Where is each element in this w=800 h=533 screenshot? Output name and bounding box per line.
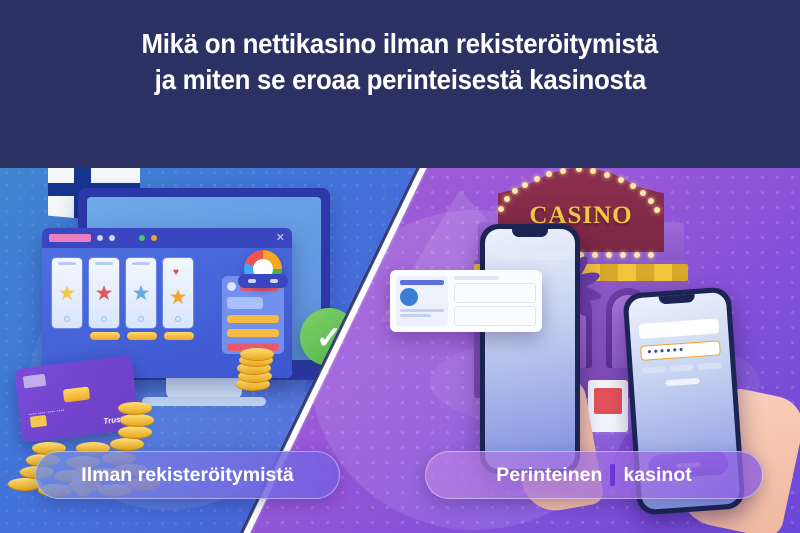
pill-right-label-b: kasinot	[623, 464, 691, 487]
star-icon: ★	[169, 287, 188, 308]
username-field[interactable]	[639, 318, 720, 339]
browser-titlebar: ✕	[42, 228, 292, 248]
pill-separator	[610, 464, 615, 486]
id-form-fields	[454, 276, 536, 326]
pill-right-label-a: Perinteinen	[496, 464, 602, 487]
pill-left-label: Ilman rekisteröitymistä	[81, 464, 293, 487]
id-verification-card	[390, 270, 542, 332]
phone-verification	[480, 224, 580, 474]
title-line-1: Mikä on nettikasino ilman rekisteröitymi…	[142, 26, 659, 62]
star-icon: ★	[132, 283, 151, 304]
status-dot-green-icon	[139, 235, 145, 241]
avatar	[400, 288, 418, 306]
slot-reel: ♥ ★	[162, 257, 194, 329]
password-field[interactable]: ••••••	[640, 340, 721, 361]
status-dot-orange-icon	[151, 235, 157, 241]
slot-reel: ★	[88, 257, 120, 329]
star-icon: ★	[95, 283, 114, 304]
comparison-panels: ✕ ★ ★	[0, 140, 800, 533]
slot-reel: ★	[51, 257, 83, 329]
pie-chart-base	[238, 274, 288, 288]
label-pill-traditional-casino[interactable]: Perinteinen kasinot	[425, 451, 763, 499]
tab-dot-icon	[109, 235, 115, 241]
id-photo-block	[396, 276, 448, 326]
infographic-canvas: ✕ ★ ★	[0, 0, 800, 533]
label-pill-no-registration[interactable]: Ilman rekisteröitymistä	[35, 451, 340, 499]
slot-cabinet-decor	[588, 380, 628, 432]
slot-reels: ★ ★ ★	[51, 257, 194, 329]
slot-reel: ★	[125, 257, 157, 329]
tab-dot-icon	[97, 235, 103, 241]
heart-icon: ♥	[173, 267, 179, 278]
login-form: ••••••	[639, 318, 724, 392]
star-icon: ★	[58, 283, 77, 304]
close-icon[interactable]: ✕	[276, 233, 285, 244]
coin-stack-center	[236, 348, 286, 394]
title-line-2: ja miten se eroaa perinteisestä kasinost…	[154, 62, 645, 98]
address-bar	[49, 234, 91, 242]
page-title: Mikä on nettikasino ilman rekisteröitymi…	[0, 0, 800, 124]
